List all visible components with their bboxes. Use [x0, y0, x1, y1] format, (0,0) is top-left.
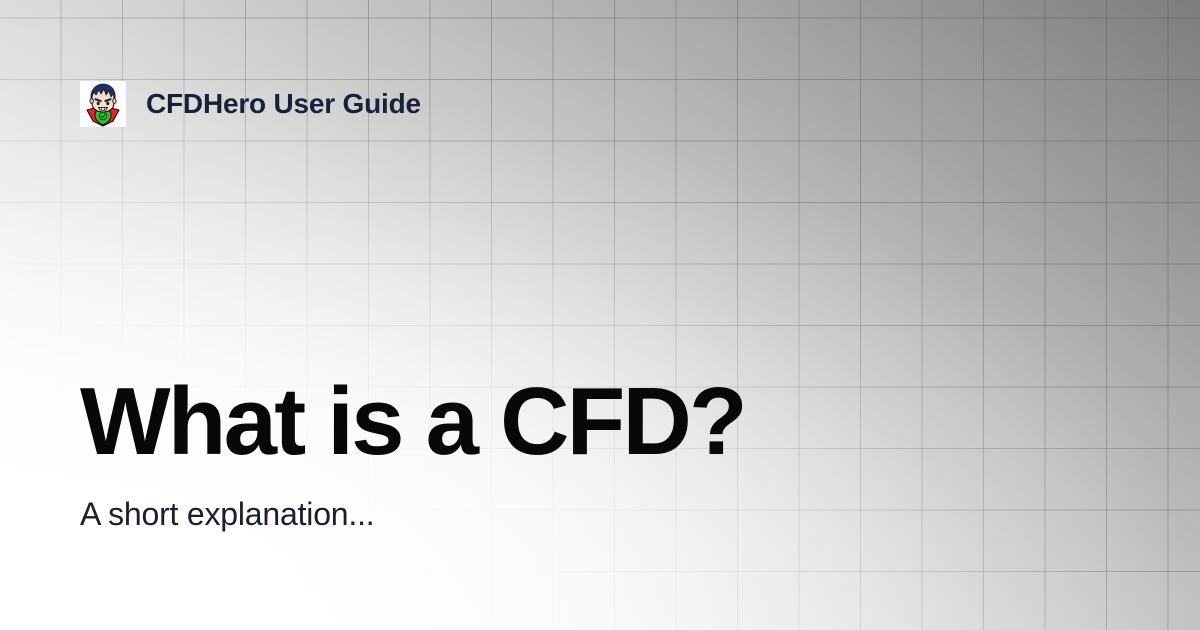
brand-header: CFDHero User Guide	[80, 80, 421, 128]
page-subtitle: A short explanation...	[80, 494, 1100, 534]
headline-block: What is a CFD? A short explanation...	[80, 372, 1100, 534]
cfdhero-superhero-avatar-icon	[80, 81, 126, 127]
og-preview-card: CFDHero User Guide What is a CFD? A shor…	[0, 0, 1200, 630]
page-title: What is a CFD?	[80, 372, 1100, 472]
card-content: CFDHero User Guide What is a CFD? A shor…	[0, 0, 1200, 630]
brand-title: CFDHero User Guide	[146, 90, 421, 118]
